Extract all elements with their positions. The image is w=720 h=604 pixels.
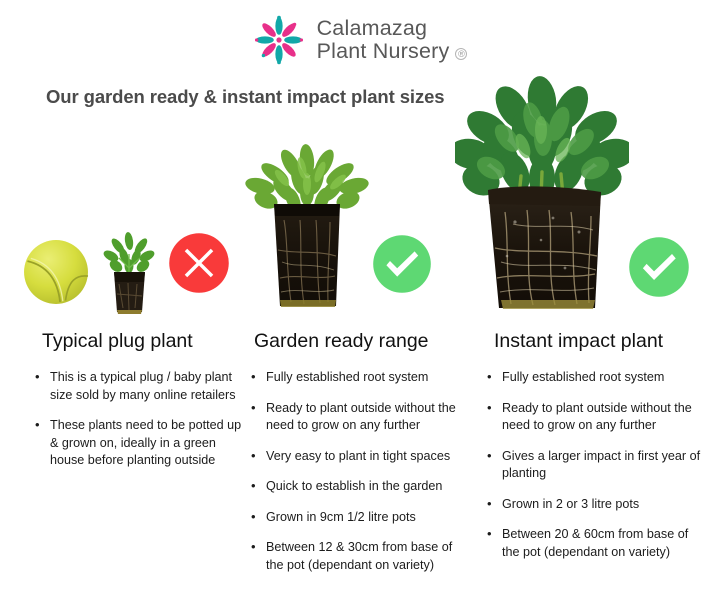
list-item: Grown in 9cm 1/2 litre pots: [250, 509, 468, 527]
plug-plant-icon: [98, 228, 160, 316]
list-item: Between 12 & 30cm from base of the pot (…: [250, 539, 468, 574]
page-title: Our garden ready & instant impact plant …: [46, 86, 445, 108]
list-item: Between 20 & 60cm from base of the pot (…: [486, 526, 706, 561]
column-title: Garden ready range: [254, 330, 468, 353]
column-title: Instant impact plant: [494, 330, 706, 353]
column-bullet-list: Fully established root system Ready to p…: [250, 369, 468, 574]
brand-logo: Calamazag Plant Nursery ®: [0, 14, 720, 66]
list-item: Ready to plant outside without the need …: [250, 400, 468, 435]
red-cross-icon: [168, 232, 230, 294]
column-instant-impact-plant: Instant impact plant Fully established r…: [486, 330, 706, 574]
list-item: Very easy to plant in tight spaces: [250, 448, 468, 466]
column-typical-plug-plant: Typical plug plant This is a typical plu…: [34, 330, 244, 483]
registered-trademark-icon: ®: [455, 48, 467, 60]
list-item: Ready to plant outside without the need …: [486, 400, 706, 435]
list-item: Grown in 2 or 3 litre pots: [486, 496, 706, 514]
flower-starburst-icon: [253, 14, 305, 66]
instant-impact-plant-image: [455, 72, 629, 316]
green-check-icon: [372, 234, 432, 294]
garden-ready-plant-image: [244, 142, 370, 314]
tennis-ball-icon: [22, 238, 90, 306]
brand-line-2: Plant Nursery: [317, 40, 450, 63]
list-item: Fully established root system: [486, 369, 706, 387]
list-item: Fully established root system: [250, 369, 468, 387]
column-bullet-list: This is a typical plug / baby plant size…: [34, 369, 244, 470]
list-item: Gives a larger impact in first year of p…: [486, 448, 706, 483]
list-item: Quick to establish in the garden: [250, 478, 468, 496]
column-bullet-list: Fully established root system Ready to p…: [486, 369, 706, 561]
brand-wordmark: Calamazag Plant Nursery ®: [317, 17, 468, 63]
list-item: This is a typical plug / baby plant size…: [34, 369, 244, 404]
column-garden-ready-range: Garden ready range Fully established roo…: [250, 330, 468, 587]
list-item: These plants need to be potted up & grow…: [34, 417, 244, 470]
column-title: Typical plug plant: [42, 330, 244, 353]
green-check-icon: [628, 236, 690, 298]
brand-line-1: Calamazag: [317, 17, 468, 40]
